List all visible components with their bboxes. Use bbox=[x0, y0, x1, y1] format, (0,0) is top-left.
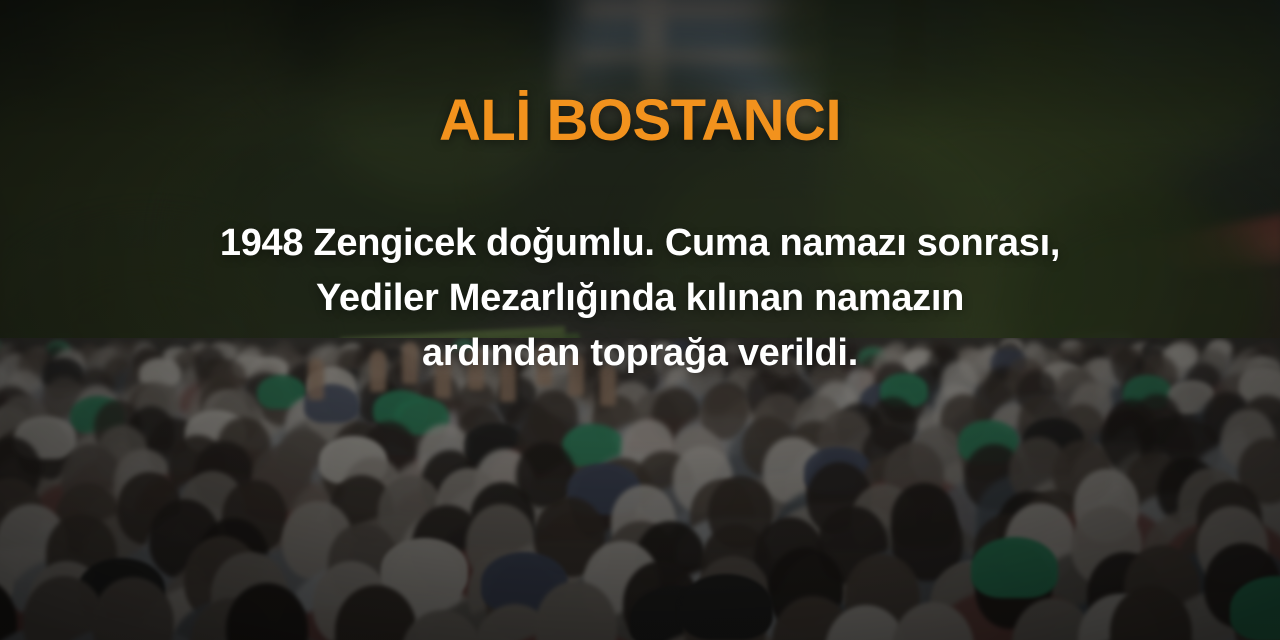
description-line-3: ardından toprağa verildi. bbox=[220, 326, 1060, 381]
description-line-1: 1948 Zengicek doğumlu. Cuma namazı sonra… bbox=[220, 216, 1060, 271]
description-text: 1948 Zengicek doğumlu. Cuma namazı sonra… bbox=[220, 150, 1060, 381]
text-content: ALİ BOSTANCI 1948 Zengicek doğumlu. Cuma… bbox=[0, 0, 1280, 640]
page-title: ALİ BOSTANCI bbox=[439, 92, 841, 150]
description-line-2: Yediler Mezarlığında kılınan namazın bbox=[220, 271, 1060, 326]
memorial-card: KONYA BÜYÜKŞEHİR BELEDİYESİ KONYA BÜYÜKŞ… bbox=[0, 0, 1280, 640]
